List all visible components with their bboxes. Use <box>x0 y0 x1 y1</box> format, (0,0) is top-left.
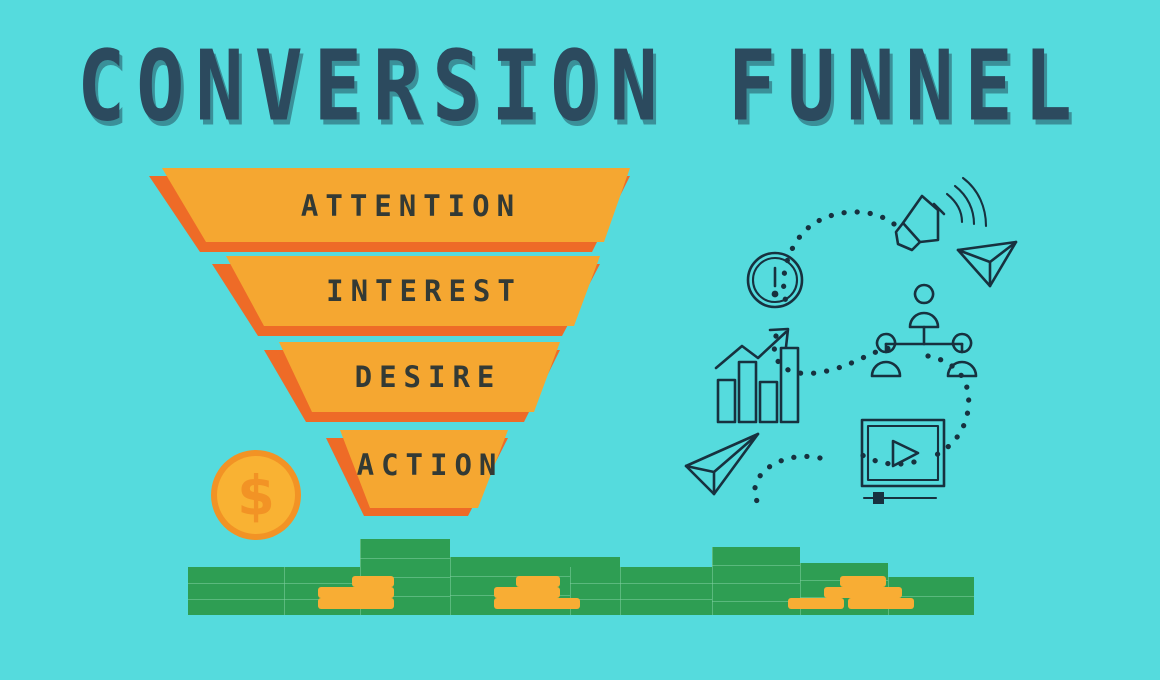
funnel-stage-interest[interactable]: INTEREST <box>200 254 600 342</box>
infographic-canvas: CONVERSION FUNNEL ATTENTION INTEREST <box>0 0 1160 680</box>
cash-bundle <box>620 567 716 615</box>
alert-circle-icon <box>748 253 802 307</box>
gold-coin-stack <box>516 587 560 598</box>
funnel-stage-attention[interactable]: ATTENTION <box>140 168 630 260</box>
gold-coin-stack <box>516 598 580 609</box>
gold-coin-stack <box>352 587 394 598</box>
dollar-symbol: $ <box>237 465 275 528</box>
gold-coin-stack <box>788 598 844 609</box>
gold-coin-stack <box>352 576 394 587</box>
gold-coin-stack <box>848 598 914 609</box>
funnel-stage-label: ACTION <box>316 448 526 482</box>
org-chart-icon <box>872 285 976 376</box>
gold-coin-stack <box>352 598 394 609</box>
money-stacks <box>0 525 1160 635</box>
gold-coin-stack <box>516 576 560 587</box>
marketing-icon-cluster <box>672 176 1052 516</box>
conversion-funnel: ATTENTION INTEREST DESIRE ACTION <box>0 0 660 540</box>
megaphone-icon <box>896 178 986 250</box>
funnel-stage-label: ATTENTION <box>140 189 656 223</box>
funnel-stage-label: DESIRE <box>252 360 582 394</box>
gold-coin-stack <box>840 576 886 587</box>
cash-bundle <box>188 567 284 615</box>
gold-coin-stack <box>846 587 902 598</box>
paper-plane-2-icon <box>686 434 758 494</box>
bar-chart-icon <box>716 329 798 422</box>
cash-bundle <box>712 547 800 615</box>
funnel-stage-desire[interactable]: DESIRE <box>252 340 560 426</box>
paper-plane-icon <box>958 242 1016 286</box>
funnel-stage-label: INTEREST <box>200 274 624 308</box>
funnel-stage-action[interactable]: ACTION <box>316 428 508 520</box>
